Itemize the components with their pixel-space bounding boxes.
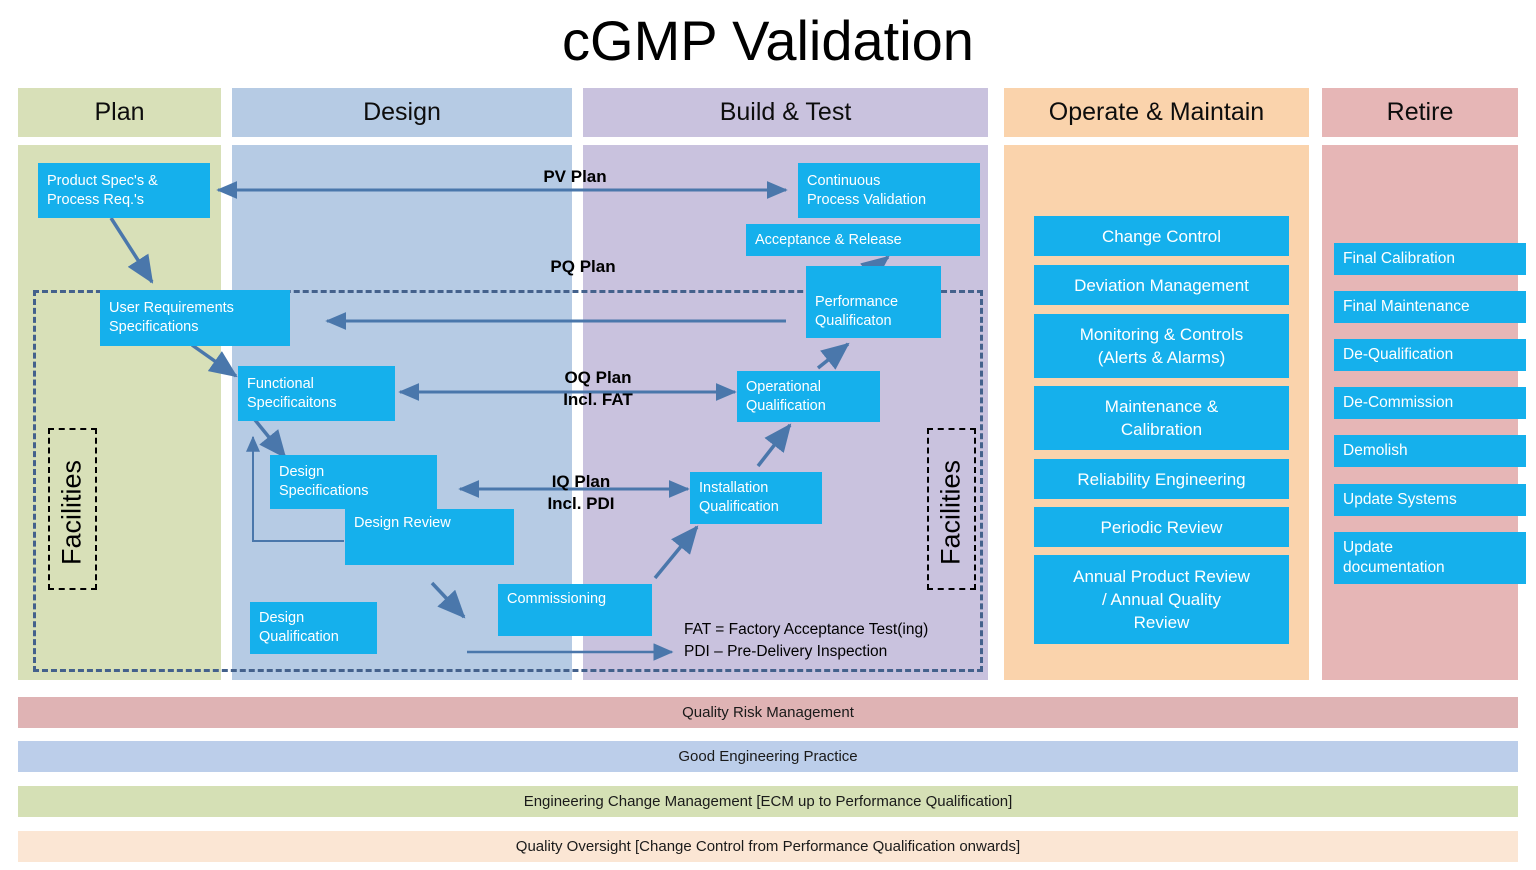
process-box-label: Demolish: [1343, 441, 1517, 461]
phase-header-label: Retire: [1387, 98, 1454, 127]
band-engineering-change-management[interactable]: Engineering Change Management [ECM up to…: [18, 786, 1518, 817]
process-box-performance-qualification[interactable]: Performance Qualificaton: [806, 266, 941, 338]
process-box-label: Update Systems: [1343, 490, 1517, 510]
process-box-continuous-process-validation[interactable]: Continuous Process Validation: [798, 163, 980, 218]
phase-header-design[interactable]: Design: [232, 88, 572, 137]
process-box-final-calibration[interactable]: Final Calibration: [1334, 243, 1526, 275]
process-box-label: Final Maintenance: [1343, 297, 1517, 317]
phase-header-label: Build & Test: [720, 98, 852, 127]
pq-plan-label: PQ Plan: [458, 256, 708, 278]
facilities-label-right: Facilities: [936, 443, 967, 583]
iq-plan-label: IQ Plan Incl. PDI: [456, 471, 706, 515]
phase-header-retire[interactable]: Retire: [1322, 88, 1518, 137]
oq-plan-label: OQ Plan Incl. FAT: [473, 367, 723, 411]
process-box-final-maintenance[interactable]: Final Maintenance: [1334, 291, 1526, 323]
process-box-label: Operational Qualification: [746, 378, 871, 416]
band-quality-risk-management[interactable]: Quality Risk Management: [18, 697, 1518, 728]
process-box-product-specs[interactable]: Product Spec's & Process Req.'s: [38, 163, 210, 218]
process-box-label: Monitoring & Controls (Alerts & Alarms): [1080, 323, 1243, 369]
process-box-commissioning[interactable]: Commissioning: [498, 584, 652, 636]
phase-header-label: Plan: [94, 98, 144, 127]
process-box-label: Design Review: [354, 514, 505, 533]
facilities-label-left: Facilities: [57, 443, 88, 583]
process-box-label: Functional Specificaitons: [247, 375, 386, 413]
process-box-label: Installation Qualification: [699, 479, 813, 517]
page-title: cGMP Validation: [0, 8, 1536, 74]
phase-header-label: Design: [363, 98, 441, 127]
process-box-label: User Requirements Specifications: [109, 299, 281, 337]
band-label: Quality Oversight [Change Control from P…: [516, 838, 1020, 855]
process-box-design-specifications[interactable]: Design Specifications: [270, 455, 437, 509]
process-box-change-control[interactable]: Change Control: [1034, 216, 1289, 256]
process-box-label: Update documentation: [1343, 538, 1517, 578]
process-box-de-commission[interactable]: De-Commission: [1334, 387, 1526, 419]
diagram-canvas: cGMP Validation Plan Design Build & Test…: [0, 0, 1536, 870]
process-box-label: De-Qualification: [1343, 345, 1517, 365]
band-quality-oversight[interactable]: Quality Oversight [Change Control from P…: [18, 831, 1518, 862]
process-box-label: Design Qualification: [259, 609, 368, 647]
process-box-label: Acceptance & Release: [755, 231, 971, 250]
process-box-reliability-engineering[interactable]: Reliability Engineering: [1034, 459, 1289, 499]
process-box-label: Design Specifications: [279, 463, 428, 501]
process-box-label: Maintenance & Calibration: [1105, 395, 1218, 441]
process-box-label: Commissioning: [507, 590, 643, 609]
process-box-periodic-review[interactable]: Periodic Review: [1034, 507, 1289, 547]
process-box-label: Final Calibration: [1343, 249, 1517, 269]
phase-header-label: Operate & Maintain: [1049, 98, 1264, 127]
process-box-annual-product-review[interactable]: Annual Product Review / Annual Quality R…: [1034, 555, 1289, 644]
legend-fat-pdi: FAT = Factory Acceptance Test(ing) PDI –…: [684, 619, 994, 663]
process-box-acceptance-and-release[interactable]: Acceptance & Release: [746, 224, 980, 256]
process-box-monitoring-and-controls[interactable]: Monitoring & Controls (Alerts & Alarms): [1034, 314, 1289, 378]
process-box-maintenance-and-calibration[interactable]: Maintenance & Calibration: [1034, 386, 1289, 450]
process-box-update-documentation[interactable]: Update documentation: [1334, 532, 1526, 584]
process-box-functional-specifications[interactable]: Functional Specificaitons: [238, 366, 395, 421]
process-box-label: Reliability Engineering: [1077, 468, 1245, 491]
process-box-label: Performance Qualificaton: [815, 293, 932, 331]
process-box-label: De-Commission: [1343, 393, 1517, 413]
phase-header-build-test[interactable]: Build & Test: [583, 88, 988, 137]
process-box-deviation-management[interactable]: Deviation Management: [1034, 265, 1289, 305]
process-box-label: Periodic Review: [1101, 516, 1223, 539]
process-box-label: Deviation Management: [1074, 274, 1249, 297]
process-box-label: Product Spec's & Process Req.'s: [47, 172, 201, 210]
process-box-installation-qualification[interactable]: Installation Qualification: [690, 472, 822, 524]
phase-header-operate[interactable]: Operate & Maintain: [1004, 88, 1309, 137]
process-box-de-qualification[interactable]: De-Qualification: [1334, 339, 1526, 371]
pv-plan-label: PV Plan: [450, 166, 700, 188]
process-box-user-requirements-specifications[interactable]: User Requirements Specifications: [100, 290, 290, 346]
band-good-engineering-practice[interactable]: Good Engineering Practice: [18, 741, 1518, 772]
process-box-label: Change Control: [1102, 225, 1221, 248]
process-box-update-systems[interactable]: Update Systems: [1334, 484, 1526, 516]
process-box-demolish[interactable]: Demolish: [1334, 435, 1526, 467]
process-box-design-review[interactable]: Design Review: [345, 509, 514, 565]
process-box-label: Continuous Process Validation: [807, 172, 971, 210]
band-label: Engineering Change Management [ECM up to…: [524, 793, 1013, 810]
process-box-label: Annual Product Review / Annual Quality R…: [1073, 565, 1250, 634]
process-box-operational-qualification[interactable]: Operational Qualification: [737, 371, 880, 422]
band-label: Good Engineering Practice: [678, 748, 857, 765]
phase-header-plan[interactable]: Plan: [18, 88, 221, 137]
band-label: Quality Risk Management: [682, 704, 854, 721]
process-box-design-qualification[interactable]: Design Qualification: [250, 602, 377, 654]
